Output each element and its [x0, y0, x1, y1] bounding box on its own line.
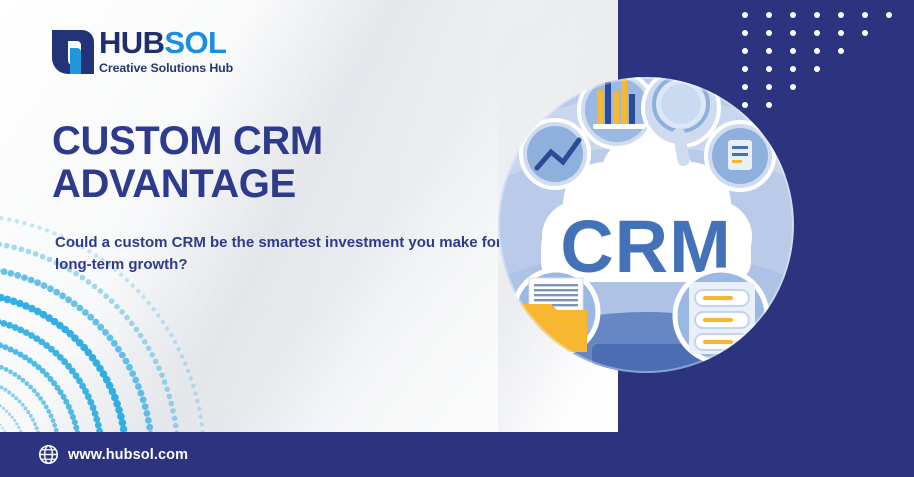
logo-word-hub: HUB	[99, 25, 164, 60]
grid-dot	[790, 12, 796, 18]
grid-dot	[862, 12, 868, 18]
grid-dot	[766, 66, 772, 72]
crm-illustration: CRM	[497, 76, 795, 374]
logo-word-sol: SOL	[164, 25, 226, 60]
grid-dot	[790, 66, 796, 72]
grid-dot	[814, 30, 820, 36]
subheading-text: Could a custom CRM be the smartest inves…	[55, 232, 515, 276]
headline-line-1: CUSTOM CRM	[52, 120, 323, 163]
logo-text-block: HUBSOL Creative Solutions Hub	[99, 27, 233, 75]
footer-website-link[interactable]: www.hubsol.com	[38, 444, 188, 465]
database-server-icon	[675, 270, 767, 362]
grid-dot	[766, 12, 772, 18]
grid-dot	[838, 30, 844, 36]
page-title: CUSTOM CRM ADVANTAGE	[52, 120, 323, 206]
hubsol-h-mark-icon	[50, 28, 95, 76]
dot-row	[742, 30, 892, 36]
grid-dot	[814, 48, 820, 54]
hubsol-logo[interactable]: HUBSOL Creative Solutions Hub	[50, 27, 233, 76]
grid-dot	[862, 30, 868, 36]
dot-row	[742, 66, 892, 72]
footer-bar: www.hubsol.com	[0, 432, 914, 477]
grid-dot	[838, 12, 844, 18]
grid-dot	[814, 12, 820, 18]
crm-advantage-banner: HUBSOL Creative Solutions Hub CUSTOM CRM…	[0, 0, 914, 477]
grid-dot	[838, 48, 844, 54]
grid-dot	[814, 66, 820, 72]
node-top-right	[706, 122, 774, 190]
logo-tagline: Creative Solutions Hub	[99, 61, 233, 75]
grid-dot	[766, 30, 772, 36]
node-top-left	[521, 120, 589, 188]
globe-icon	[38, 444, 59, 465]
grid-dot	[742, 30, 748, 36]
grid-dot	[742, 66, 748, 72]
grid-dot	[742, 48, 748, 54]
grid-dot	[766, 48, 772, 54]
dot-row	[742, 48, 892, 54]
grid-dot	[886, 12, 892, 18]
grid-dot	[790, 30, 796, 36]
dot-row	[742, 12, 892, 18]
logo-wordmark: HUBSOL	[99, 27, 233, 58]
footer-url-text: www.hubsol.com	[68, 447, 188, 463]
headline-line-2: ADVANTAGE	[52, 163, 323, 206]
grid-dot	[742, 12, 748, 18]
grid-dot	[790, 48, 796, 54]
